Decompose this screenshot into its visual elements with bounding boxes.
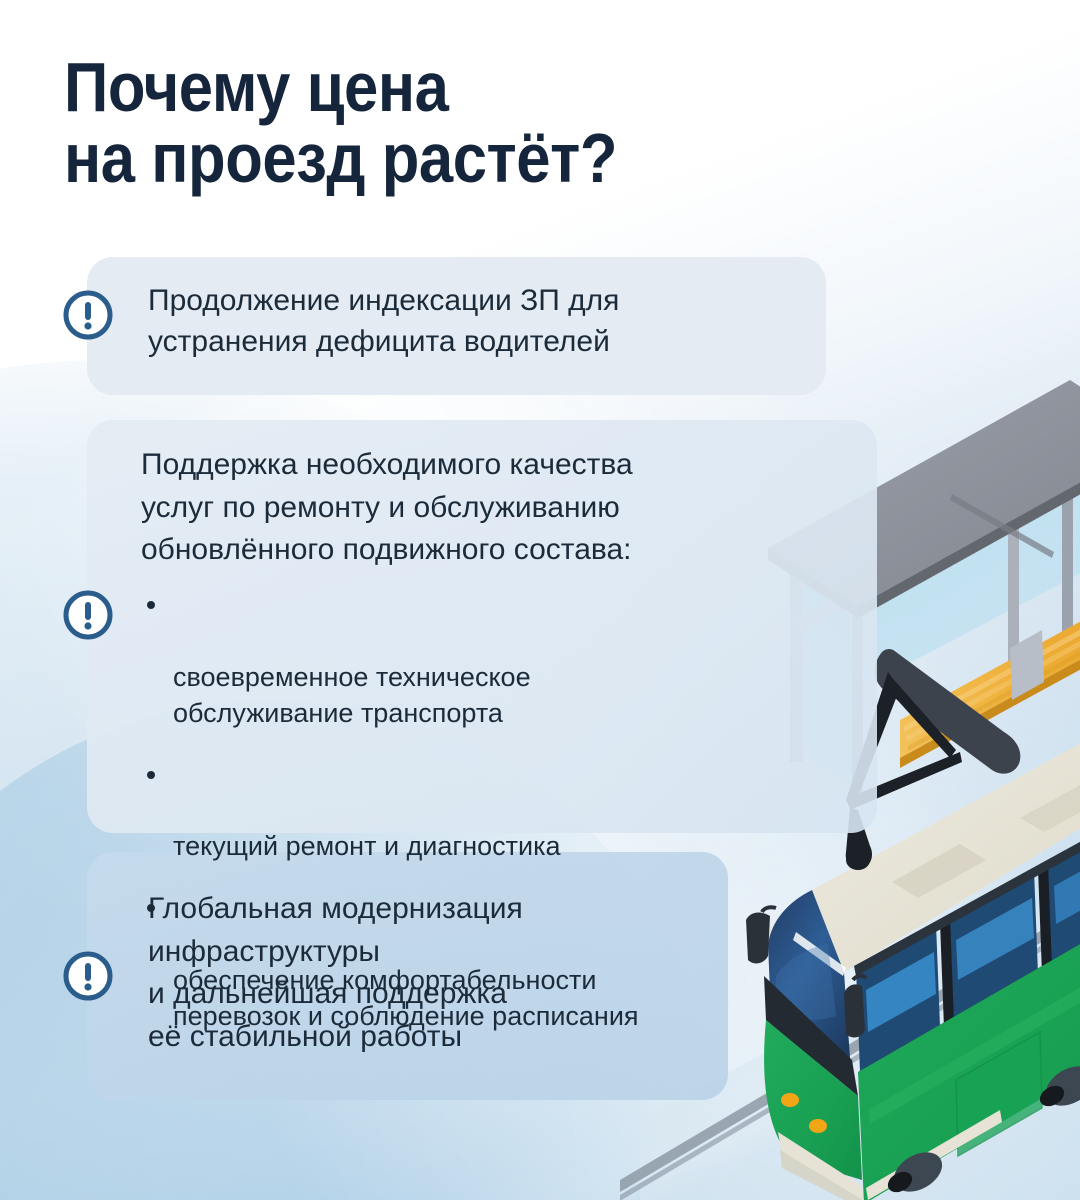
list-item: своевременное техническое обслуживание т… [141,588,841,732]
bullet-dot-icon [147,771,155,779]
list-item-label: своевременное техническое обслуживание т… [173,662,531,728]
infographic-poster: Почему цена на проезд растёт? Продолжени… [0,0,1080,1200]
headlight-right [809,1119,827,1133]
headlight-left [781,1093,799,1107]
exclamation-circle-icon [62,289,114,341]
card-maintenance-quality-heading: Поддержка необходимого качества услуг по… [141,444,861,572]
list-item-label: текущий ремонт и диагностика [173,831,561,861]
card-infrastructure-modernization-text: Глобальная модернизация инфраструктуры и… [148,888,728,1058]
page-title: Почему цена на проезд растёт? [64,52,803,195]
exclamation-circle-icon [62,589,114,641]
exclamation-circle-icon [62,950,114,1002]
bullet-dot-icon [147,601,155,609]
list-item: текущий ремонт и диагностика [141,758,841,866]
card-salary-indexation-text: Продолжение индексации ЗП для устранения… [148,281,828,363]
